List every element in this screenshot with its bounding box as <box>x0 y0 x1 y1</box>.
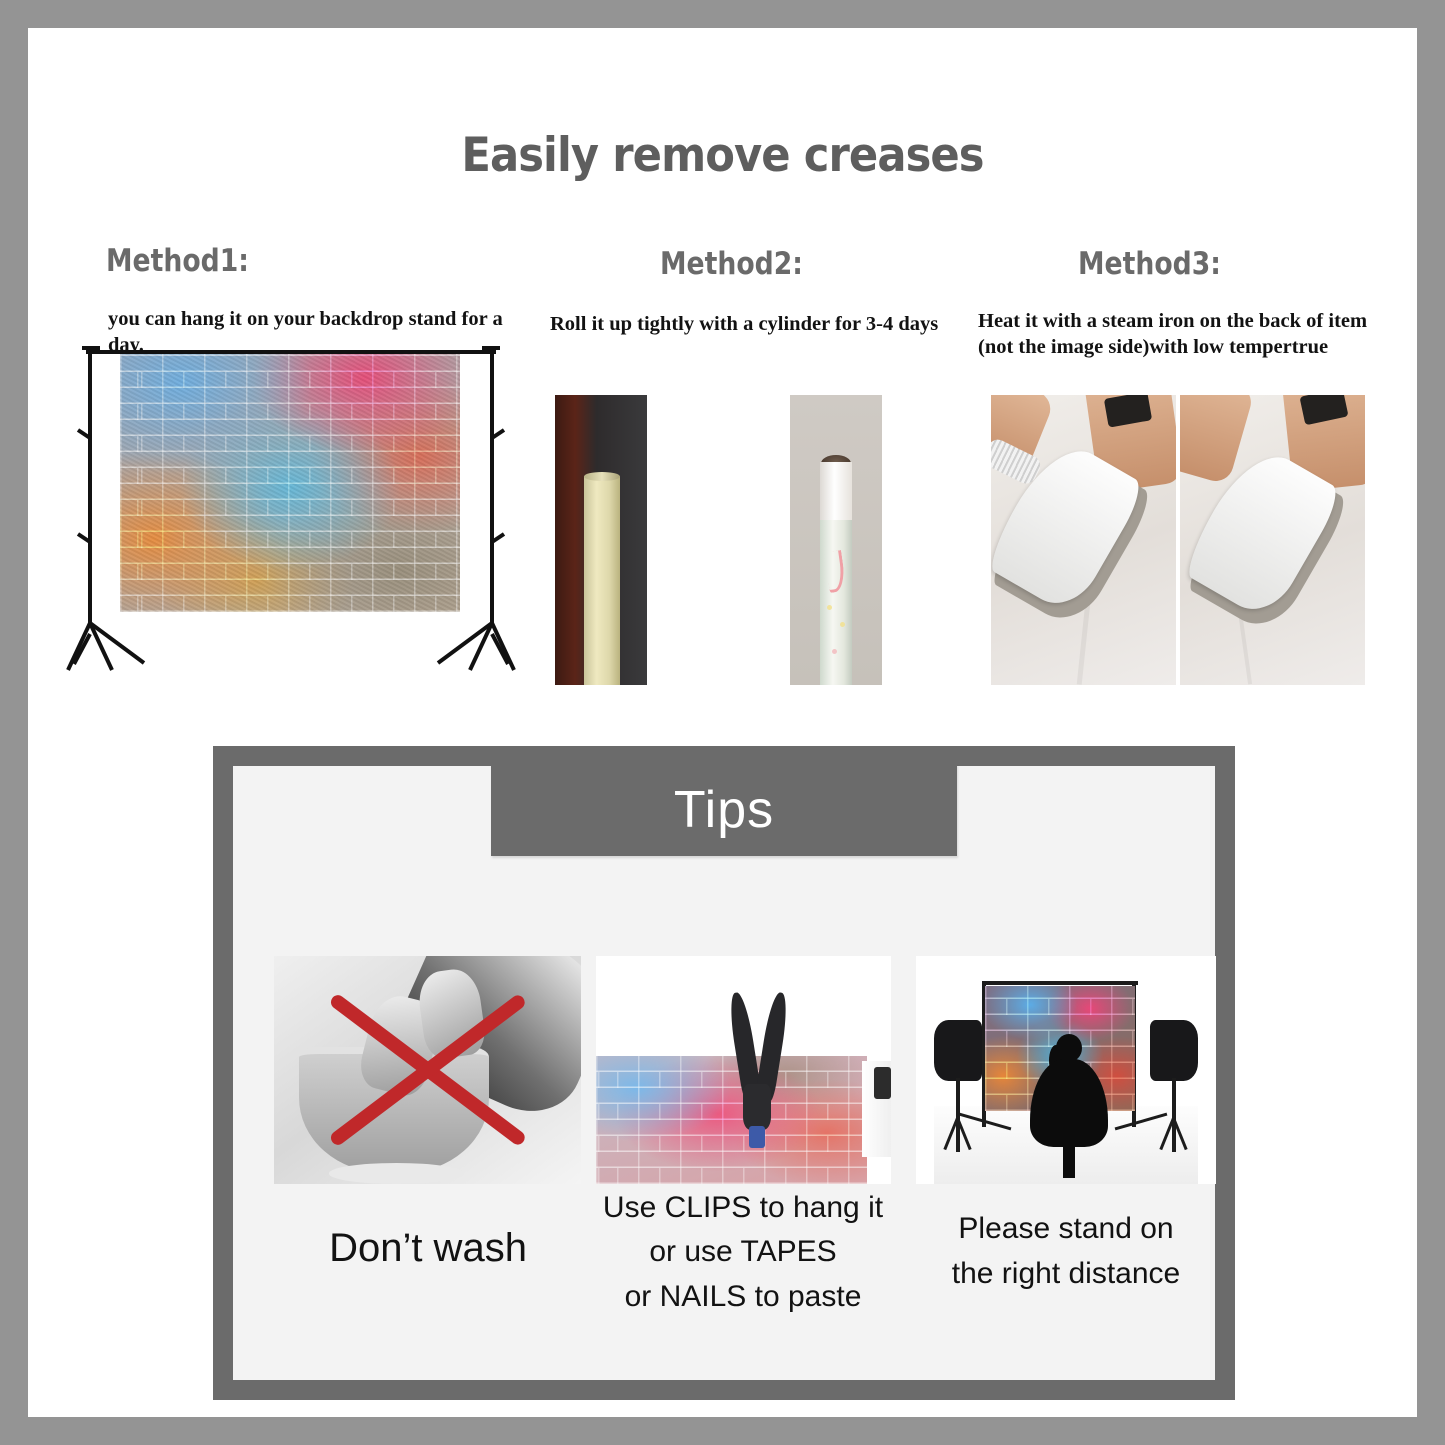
tube-dot <box>840 622 845 627</box>
backdrop-roller <box>862 1061 892 1157</box>
lamp-head <box>934 1020 982 1081</box>
tip-image-use-clips <box>596 956 891 1184</box>
spring-clamp-icon <box>732 992 785 1101</box>
tube-dot <box>827 605 832 610</box>
method1-heading: Method1: <box>106 243 249 279</box>
tip-caption-dont-wash: Don’t wash <box>238 1226 618 1271</box>
lamp-head <box>1150 1020 1198 1081</box>
pink-squiggle-mark <box>824 550 847 593</box>
method3-heading: Method3: <box>1078 246 1221 282</box>
tube-collar <box>820 462 851 520</box>
lamp-leg <box>1172 1118 1175 1152</box>
tips-tab-label: Tips <box>674 784 774 836</box>
infographic-page: Easily remove creases Method1: you can h… <box>28 28 1417 1417</box>
tip-caption-use-clips: Use CLIPS to hang it or use TAPES or NAI… <box>573 1186 913 1319</box>
red-x-icon <box>274 956 581 1184</box>
child-silhouette <box>1030 1034 1108 1175</box>
method2-description: Roll it up tightly with a cylinder for 3… <box>550 311 970 337</box>
silhouette-head <box>1056 1034 1083 1062</box>
roller-end-cap <box>874 1067 891 1100</box>
tip-caption-stand-distance: Please stand on the right distance <box>908 1206 1224 1296</box>
clamp-jaw <box>743 1084 771 1130</box>
backdrop-crossbar <box>982 981 1138 985</box>
method3-description: Heat it with a steam iron on the back of… <box>978 308 1388 360</box>
silhouette-legs <box>1063 1141 1075 1178</box>
studio-light-right <box>1150 1020 1198 1152</box>
tube-dot <box>832 649 837 654</box>
cylinder-photo-dark-wood <box>555 395 647 685</box>
studio-light-left <box>934 1020 982 1152</box>
steam-iron-photo-right <box>1180 395 1365 685</box>
steam-iron-photo-left <box>991 395 1176 685</box>
cylinder-photo-gray-wall <box>790 395 882 685</box>
tip-image-dont-wash <box>274 956 581 1184</box>
white-paper-tube <box>820 462 851 685</box>
backdrop-stand-image <box>60 338 525 683</box>
beige-paper-tube <box>584 476 621 685</box>
method2-heading: Method2: <box>660 246 803 282</box>
lamp-leg <box>956 1118 959 1152</box>
stand-frame-icon <box>60 338 525 683</box>
tip-image-stand-distance <box>916 956 1216 1184</box>
clamp-blue-tip <box>749 1126 765 1148</box>
silhouette-dress <box>1030 1059 1108 1147</box>
tips-tab: Tips <box>491 764 957 856</box>
